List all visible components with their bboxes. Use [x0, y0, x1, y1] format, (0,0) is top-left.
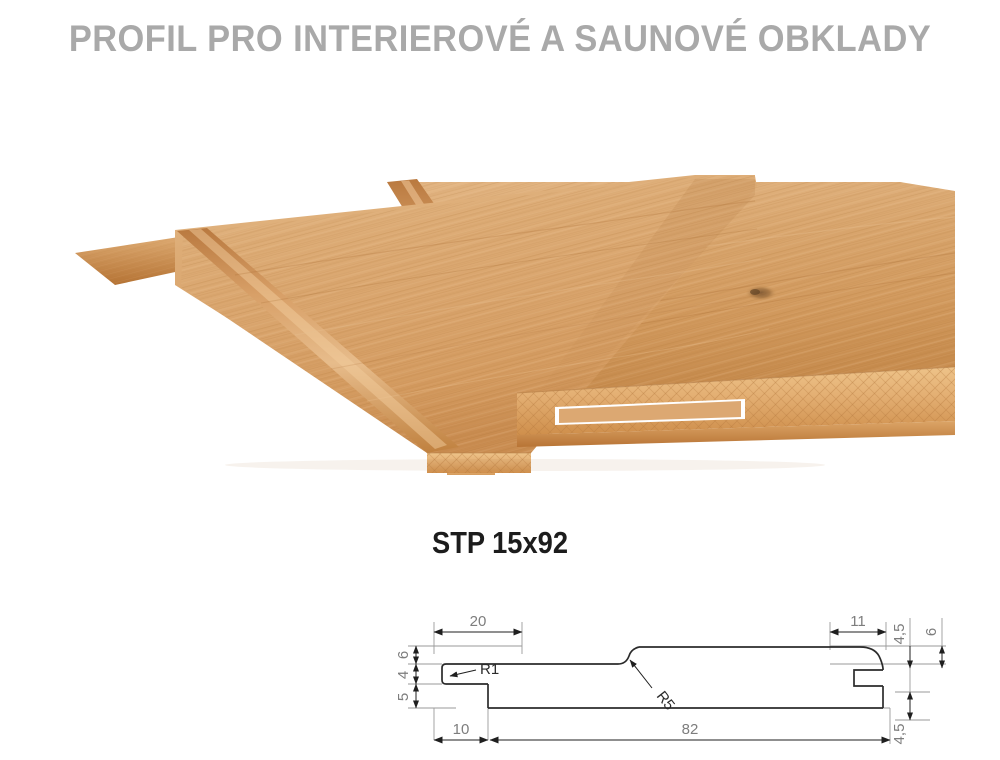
- dim-10-label: 10: [453, 721, 470, 738]
- wood-knot: [745, 285, 777, 301]
- dim-top-right: 11: [830, 613, 886, 632]
- dim-left-4: 4: [395, 664, 416, 684]
- dim-right-6-label: 6: [923, 628, 940, 636]
- dim-82-label: 82: [682, 721, 699, 738]
- page-root: PROFIL PRO INTERIEROVÉ A SAUNOVÉ OBKLADY: [0, 0, 1000, 760]
- dim-right-45-bottom-label: 4,5: [891, 724, 908, 745]
- dim-left-5-label: 5: [395, 693, 412, 701]
- page-title: PROFIL PRO INTERIEROVÉ A SAUNOVÉ OBKLADY: [35, 18, 965, 60]
- dim-right-45-bottom: 4,5: [891, 692, 910, 744]
- dim-left-6-label: 6: [395, 651, 412, 659]
- product-photo: [55, 135, 955, 475]
- product-code: STP 15x92: [60, 525, 940, 561]
- wood-knot-core: [750, 289, 760, 295]
- dim-11-label: 11: [850, 613, 866, 630]
- callout-r5: R5: [630, 660, 678, 714]
- photo-shadow: [225, 459, 825, 471]
- dim-bottom-82: 82: [490, 721, 890, 740]
- dim-top-left: 20: [434, 613, 522, 632]
- technical-drawing: 20 11 6 4 5 4,5 6: [390, 592, 990, 760]
- dim-20-label: 20: [470, 613, 487, 630]
- callout-r1-label: R1: [480, 661, 499, 678]
- dim-right-6: 6: [923, 628, 942, 668]
- dim-bottom-10: 10: [434, 721, 488, 740]
- dim-left-5: 5: [395, 684, 416, 708]
- front-end-tongue: [447, 473, 495, 475]
- dim-right-45-top-label: 4,5: [891, 624, 908, 645]
- dim-left-4-label: 4: [395, 671, 412, 679]
- dim-left-6: 6: [395, 646, 416, 664]
